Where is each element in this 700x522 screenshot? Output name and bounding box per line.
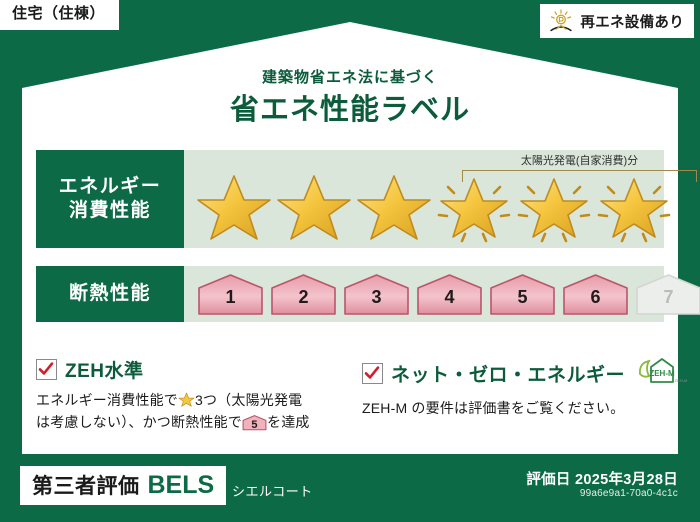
label-title: 省エネ性能ラベル [0,86,700,128]
zeh-criteria-head: ZEH水準 [36,356,356,383]
insulation-performance-label-box: 断熱性能 [36,266,184,322]
energy-star-1 [194,169,274,245]
insulation-label: 断熱性能 [69,282,151,306]
bels-jp-label: 第三者評価 [32,470,140,500]
check-icon [38,361,54,377]
zeh-body-part1: エネルギー消費性能で [36,392,178,408]
sun-renewable-icon [548,9,574,33]
energy-star-3 [354,169,434,245]
inline-insulation-badge-num: 5 [242,417,267,434]
stars-container [184,150,664,248]
energy-stars-panel: 太陽光発電(自家消費)分 [184,150,664,248]
insulation-level-1: 1 [196,272,265,316]
zeh-m-logo: ZEH-M ZEH-M [637,356,689,391]
insulation-level-5: 5 [488,272,557,316]
nze-criteria-body: ZEH-M の要件は評価書をご覧ください。 [362,398,662,420]
renewable-energy-badge: 再エネ設備あり [540,4,694,38]
bels-en-label: BELS [148,471,215,500]
energy-star-2 [274,169,354,245]
insulation-performance-row: 断熱性能 1 [36,266,664,322]
zeh-star-count-text: 3つ（太陽光発電 [195,392,302,408]
zeh-criteria-block: ZEH水準 エネルギー消費性能で3つ（太陽光発電は考慮しない）、かつ断熱性能で5… [36,356,356,433]
insulation-level-6: 6 [561,272,630,316]
zeh-criteria-body: エネルギー消費性能で3つ（太陽光発電は考慮しない）、かつ断熱性能で5を達成 [36,390,356,433]
insulation-level-4: 4 [415,272,484,316]
insulation-level-3: 3 [342,272,411,316]
nze-criteria-head: ネット・ゼロ・エネルギー ZEH-M ZEH-M [362,356,662,391]
check-icon [364,365,380,381]
zeh-body-part2: は考慮しない）、かつ断熱性能で [36,414,242,430]
inline-insulation-badge: 5 [242,414,267,431]
energy-performance-row: エネルギー 消費性能 太陽光発電(自家消費)分 [36,150,664,248]
energy-star-4 [434,169,514,245]
energy-label-line2: 消費性能 [69,199,151,223]
nze-checkbox[interactable] [362,363,383,384]
zeh-body-part3: を達成 [267,414,310,430]
zeh-checkbox[interactable] [36,359,57,380]
energy-performance-label: 住宅（住棟） 再エネ設備あり 建築物省エネ法に基づく 省エネ性能ラベル エネルギ… [0,0,700,522]
nze-criteria-block: ネット・ゼロ・エネルギー ZEH-M ZEH-M ZEH-M の要件は評価書をご… [362,356,662,420]
svg-text:ZEH-M: ZEH-M [675,378,688,383]
energy-label-line1: エネルギー [59,175,162,199]
bels-box: 第三者評価 BELS [20,466,226,505]
evaluation-date: 評価日 2025年3月28日 [526,468,678,489]
energy-performance-label-box: エネルギー 消費性能 [36,150,184,248]
energy-star-6 [594,169,674,245]
energy-star-5 [514,169,594,245]
bottom-bar: 第三者評価 BELS シエルコート 評価日 2025年3月28日 99a6e9a… [0,454,700,522]
insulation-level-7: 7 [634,272,700,316]
label-subtitle: 建築物省エネ法に基づく [0,66,700,87]
insulation-level-2: 2 [269,272,338,316]
svg-text:ZEH-M: ZEH-M [649,369,675,378]
insulation-levels-panel: 1 2 3 4 [184,266,664,322]
evaluation-id: 99a6e9a1-70a0-4c1c [580,488,678,499]
insulation-levels-container: 1 2 3 4 [184,266,664,322]
zeh-criteria-title: ZEH水準 [65,356,144,383]
nze-criteria-title: ネット・ゼロ・エネルギー [391,360,625,387]
renewable-badge-label: 再エネ設備あり [580,11,684,32]
inline-star-icon [178,391,195,408]
building-type-tag: 住宅（住棟） [0,0,119,30]
owner-name: シエルコート [232,481,313,500]
building-type-label: 住宅（住棟） [12,5,105,22]
